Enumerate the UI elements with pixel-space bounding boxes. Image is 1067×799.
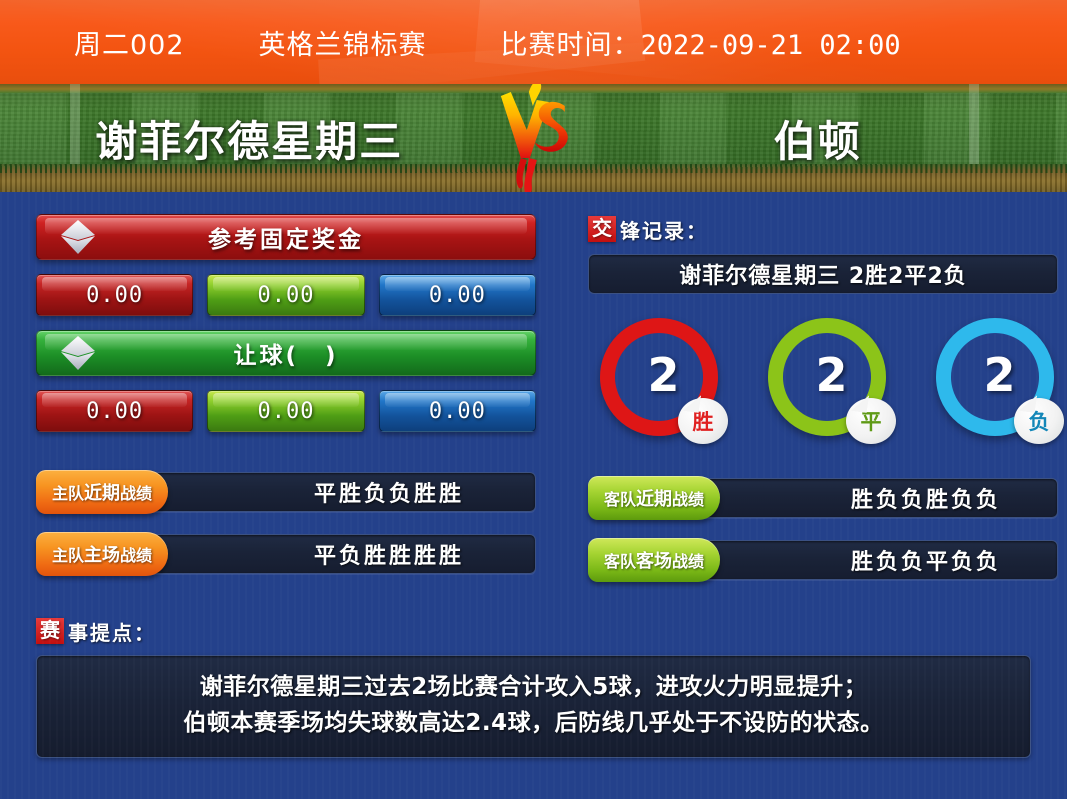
handicap-odds-row: 0.00 0.00 0.00 (36, 390, 536, 432)
vs-flame-icon (476, 84, 586, 192)
fixed-odds-lose[interactable]: 0.00 (379, 274, 536, 316)
h2h-draw-count: 2 (815, 352, 847, 398)
match-preview-card: 周二002 英格兰锦标赛 比赛时间：2022-09-21 02:00 谢菲尔德星… (0, 0, 1067, 799)
tips-box: 谢菲尔德星期三过去2场比赛合计攻入5球，进攻火力明显提升； 伯顿本赛季场均失球数… (36, 655, 1031, 758)
diamond-icon (59, 218, 97, 256)
home-home-form-row: 平负胜胜胜胜 主队主场战绩 (36, 532, 536, 576)
tips-title: 赛 事提点： (36, 616, 1031, 646)
h2h-title-badge: 交 (588, 216, 616, 242)
odd-shine (385, 393, 530, 407)
home-recent-form-row: 平胜负负胜胜 主队近期战绩 (36, 470, 536, 514)
home-recent-form-label-a: 主队 (52, 480, 84, 504)
away-recent-form-label-c: 战绩 (672, 486, 704, 510)
fixed-odds-title-label: 参考固定奖金 (208, 220, 364, 254)
home-home-form-label-c: 战绩 (120, 542, 152, 566)
handicap-odds-win[interactable]: 0.00 (36, 390, 193, 432)
home-home-form-value: 平负胜胜胜胜 (218, 538, 464, 570)
match-time: 比赛时间：2022-09-21 02:00 (501, 23, 901, 62)
away-away-form-row: 胜负负平负负 客队客场战绩 (588, 538, 1058, 582)
away-away-form-tab[interactable]: 客队客场战绩 (588, 538, 720, 582)
home-recent-form-field: 平胜负负胜胜 (146, 472, 536, 512)
fixed-odds-draw[interactable]: 0.00 (207, 274, 364, 316)
h2h-draw-badge: 平 (846, 398, 896, 444)
fixed-odds-row: 0.00 0.00 0.00 (36, 274, 536, 316)
fixed-odds-win[interactable]: 0.00 (36, 274, 193, 316)
home-recent-form-tab[interactable]: 主队近期战绩 (36, 470, 168, 514)
home-team-name: 谢菲尔德星期三 (0, 108, 539, 169)
tips-title-badge: 赛 (36, 618, 64, 644)
h2h-title: 交 锋记录： (588, 214, 1058, 244)
h2h-ring-draw: 2 平 (768, 318, 886, 436)
away-recent-form-tab[interactable]: 客队近期战绩 (588, 476, 720, 520)
tips-line-2: 伯顿本赛季场均失球数高达2.4球，后防线几乎处于不设防的状态。 (57, 706, 1010, 742)
away-recent-form-label-b: 近期 (636, 485, 672, 511)
fixed-odds-title-bar: 参考固定奖金 (36, 214, 536, 260)
home-recent-form-value: 平胜负负胜胜 (218, 476, 464, 508)
teams-banner: 谢菲尔德星期三 伯顿 (0, 84, 1067, 192)
odd-shine (385, 277, 530, 291)
tips-title-rest: 事提点： (68, 617, 156, 646)
odd-shine (213, 277, 358, 291)
away-team-name: 伯顿 (539, 108, 1067, 169)
handicap-title-label: 让球( ) (233, 336, 338, 370)
away-away-form-value: 胜负负平负负 (755, 544, 1001, 576)
handicap-odds-draw[interactable]: 0.00 (207, 390, 364, 432)
home-home-form-label-b: 主场 (84, 541, 120, 567)
h2h-summary-text: 谢菲尔德星期三 2胜2平2负 (679, 258, 967, 290)
away-recent-form-row: 胜负负胜负负 客队近期战绩 (588, 476, 1058, 520)
odd-shine (42, 277, 187, 291)
home-home-form-field: 平负胜胜胜胜 (146, 534, 536, 574)
h2h-win-count: 2 (647, 352, 679, 398)
home-home-form-tab[interactable]: 主队主场战绩 (36, 532, 168, 576)
h2h-rings: 2 胜 2 平 2 负 (588, 318, 1058, 436)
match-header-bar: 周二002 英格兰锦标赛 比赛时间：2022-09-21 02:00 (0, 0, 1067, 84)
match-round-number: 周二002 (74, 23, 185, 62)
away-away-form-label-a: 客队 (604, 548, 636, 572)
handicap-odds-lose[interactable]: 0.00 (379, 390, 536, 432)
h2h-ring-win: 2 胜 (600, 318, 718, 436)
match-time-value: 2022-09-21 02:00 (641, 30, 901, 61)
diamond-icon (59, 334, 97, 372)
h2h-title-rest: 锋记录： (620, 215, 708, 244)
away-away-form-label-b: 客场 (636, 547, 672, 573)
away-recent-form-value: 胜负负胜负负 (755, 482, 1001, 514)
home-home-form-label-a: 主队 (52, 542, 84, 566)
match-time-label: 比赛时间： (501, 30, 641, 61)
tips-line-1: 谢菲尔德星期三过去2场比赛合计攻入5球，进攻火力明显提升； (57, 670, 1010, 706)
away-away-form-label-c: 战绩 (672, 548, 704, 572)
head-to-head-panel: 交 锋记录： 谢菲尔德星期三 2胜2平2负 2 胜 2 平 (588, 214, 1058, 582)
h2h-win-badge: 胜 (678, 398, 728, 444)
match-tips-section: 赛 事提点： 谢菲尔德星期三过去2场比赛合计攻入5球，进攻火力明显提升； 伯顿本… (36, 616, 1031, 758)
home-recent-form-label-c: 战绩 (120, 480, 152, 504)
home-recent-form-label-b: 近期 (84, 479, 120, 505)
league-name: 英格兰锦标赛 (259, 23, 427, 62)
odds-panel: 参考固定奖金 0.00 0.00 0.00 让球( ) 0.00 (36, 214, 536, 582)
odd-shine (213, 393, 358, 407)
h2h-lose-count: 2 (983, 352, 1015, 398)
odd-shine (42, 393, 187, 407)
handicap-title-bar: 让球( ) (36, 330, 536, 376)
h2h-lose-badge: 负 (1014, 398, 1064, 444)
away-recent-form-field: 胜负负胜负负 (698, 478, 1058, 518)
away-away-form-field: 胜负负平负负 (698, 540, 1058, 580)
away-recent-form-label-a: 客队 (604, 486, 636, 510)
h2h-ring-lose: 2 负 (936, 318, 1054, 436)
h2h-summary-bar: 谢菲尔德星期三 2胜2平2负 (588, 254, 1058, 294)
